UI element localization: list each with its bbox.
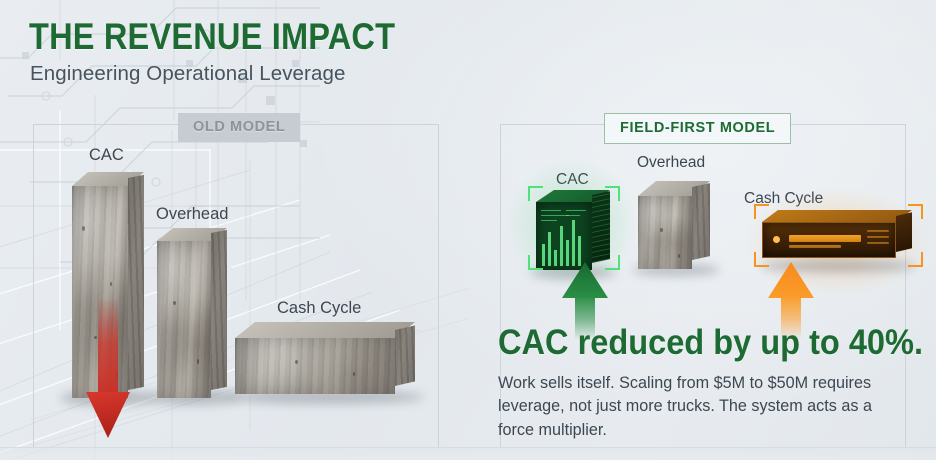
block-front-face (235, 338, 395, 394)
label-old-cash-cycle: Cash Cycle (277, 299, 361, 318)
bar-old-cash-cycle (235, 322, 415, 398)
floor-band (0, 448, 936, 460)
callout-body: Work sells itself. Scaling from $5M to $… (498, 372, 908, 442)
label-old-overhead: Overhead (156, 205, 228, 224)
cash-cycle-bracket-top-right (908, 204, 923, 219)
cac-bracket-top-left (528, 186, 543, 201)
page-subtitle: Engineering Operational Leverage (30, 62, 345, 86)
arrow-head (768, 262, 814, 298)
callout-headline: CAC reduced by up to 40%. (498, 325, 923, 360)
arrow-head (86, 392, 130, 438)
block-front-face (638, 196, 692, 269)
badge-field-first-model: FIELD-FIRST MODEL (604, 113, 791, 144)
arrow-head (562, 262, 608, 298)
badge-old-model: OLD MODEL (178, 113, 300, 142)
cac-bracket-top-right (605, 186, 620, 201)
block-side-face (395, 325, 415, 386)
cac-bracket-bottom-left (528, 255, 543, 270)
cash-cycle-bracket-bottom-left (754, 252, 769, 267)
cash-cycle-bracket-bottom-right (908, 252, 923, 267)
page-title: THE REVENUE IMPACT (29, 18, 395, 55)
arrow-stem (98, 300, 118, 398)
bar-old-overhead (157, 228, 227, 398)
bar-new-overhead (638, 181, 710, 269)
cash-cycle-bracket-top-left (754, 204, 769, 219)
label-new-overhead: Overhead (637, 154, 705, 172)
cube-front-face (536, 202, 592, 270)
block-front-face (157, 241, 211, 398)
label-old-cac: CAC (89, 146, 124, 165)
block-side-face (692, 183, 710, 260)
down-arrow-icon (86, 300, 130, 438)
slide-canvas: THE REVENUE IMPACT Engineering Operation… (0, 0, 936, 460)
cube-side-face (592, 191, 610, 263)
block-side-face (128, 175, 144, 390)
cash-cycle-server-icon (762, 210, 912, 264)
block-side-face (211, 230, 227, 390)
cac-data-cube-icon (536, 190, 610, 270)
device-front-face (762, 222, 896, 258)
